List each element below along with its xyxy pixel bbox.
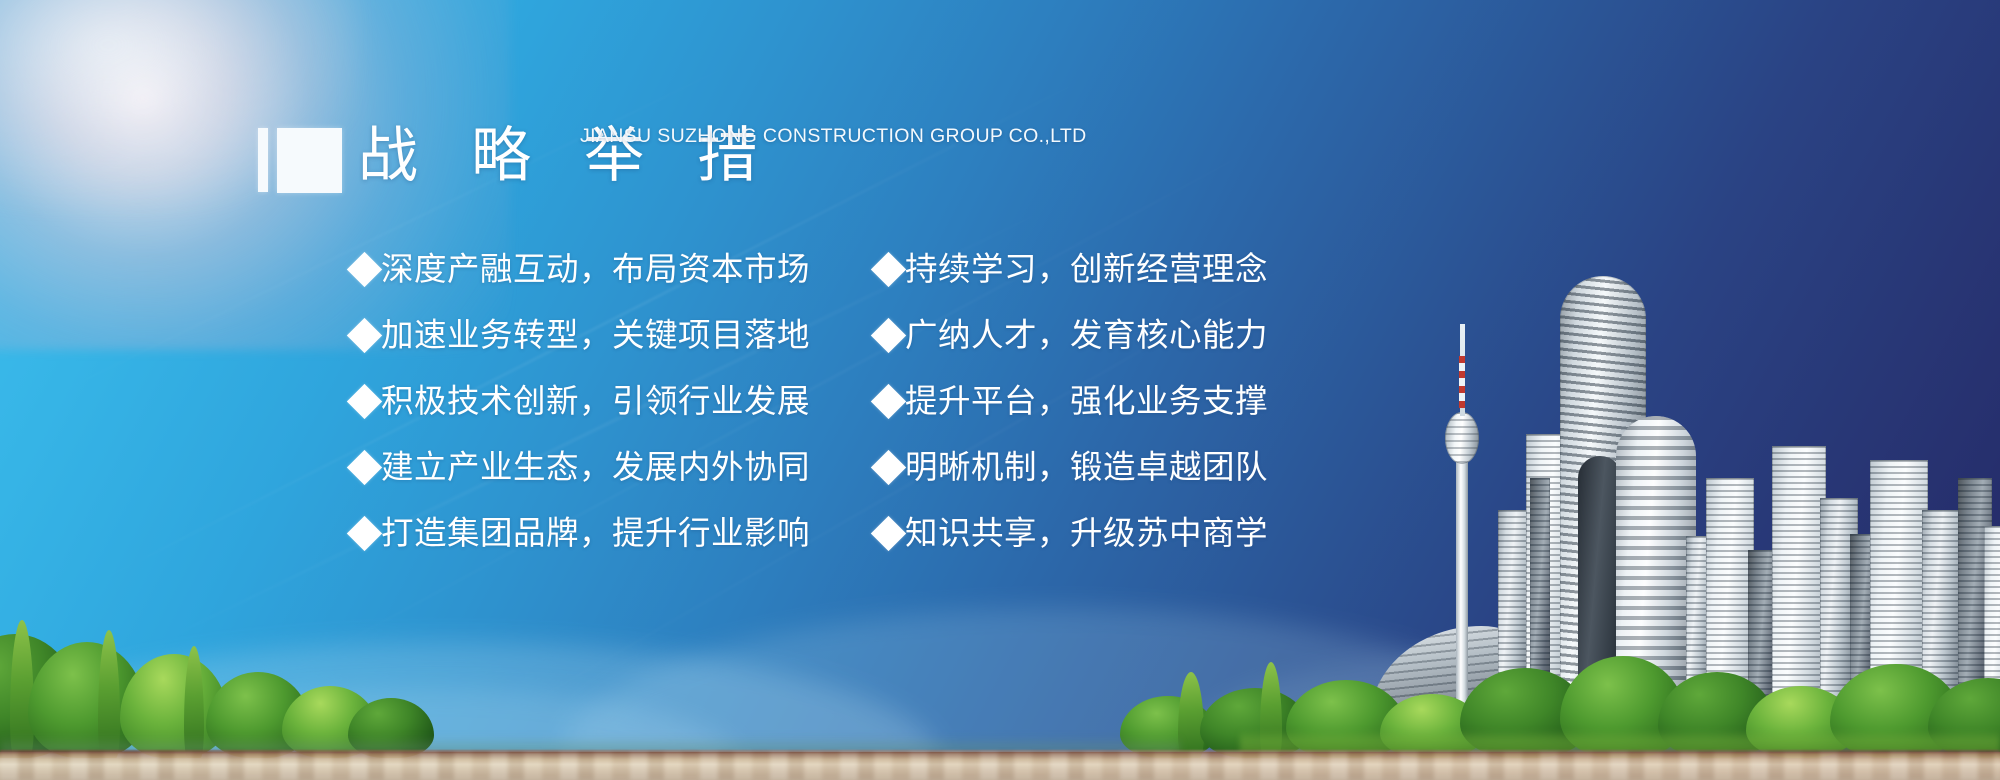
diamond-bullet-icon [347,515,382,550]
list-item-label: 加速业务转型，关键项目落地 [381,319,844,352]
list-item-label: 持续学习，创新经营理念 [905,253,1305,286]
list-item-label: 打造集团品牌，提升行业影响 [381,517,844,550]
list-item: 知识共享，升级苏中商学 [876,500,1305,566]
list-item: 打造集团品牌，提升行业影响 [352,500,844,566]
list-item: 深度产融互动，布局资本市场 [352,236,844,302]
tree [1178,672,1204,758]
diamond-bullet-icon [871,449,906,484]
diamond-bullet-icon [347,383,382,418]
list-item-label: 知识共享，升级苏中商学 [905,517,1305,550]
list-item: 建立产业生态，发展内外协同 [352,434,844,500]
initiatives-column-left: 深度产融互动，布局资本市场 加速业务转型，关键项目落地 积极技术创新，引领行业发… [352,236,844,566]
diamond-bullet-icon [871,317,906,352]
list-item: 广纳人才，发育核心能力 [876,302,1305,368]
diamond-bullet-icon [871,251,906,286]
logo-mark [258,128,342,193]
list-item-label: 明晰机制，锻造卓越团队 [905,451,1305,484]
diamond-bullet-icon [871,515,906,550]
list-item: 持续学习，创新经营理念 [876,236,1305,302]
initiatives-columns: 深度产融互动，布局资本市场 加速业务转型，关键项目落地 积极技术创新，引领行业发… [352,236,1305,566]
list-item-label: 积极技术创新，引领行业发展 [381,385,844,418]
tv-tower-observation-bulb [1445,412,1479,464]
list-item: 加速业务转型，关键项目落地 [352,302,844,368]
initiatives-column-right: 持续学习，创新经营理念 广纳人才，发育核心能力 提升平台，强化业务支撑 明晰机制… [876,236,1305,566]
diamond-bullet-icon [871,383,906,418]
list-item-label: 建立产业生态，发展内外协同 [381,451,844,484]
list-item: 提升平台，强化业务支撑 [876,368,1305,434]
list-item: 积极技术创新，引领行业发展 [352,368,844,434]
water-reflection [0,752,2000,780]
diamond-bullet-icon [347,449,382,484]
list-item-label: 提升平台，强化业务支撑 [905,385,1305,418]
diamond-bullet-icon [347,317,382,352]
diamond-bullet-icon [347,251,382,286]
company-name-subtitle: JIANSU SUZHONG CONSTRUCTION GROUP CO.,LT… [580,125,1087,148]
logo-bar-icon [258,128,268,192]
strategic-initiatives-banner: 战 略 举 措 JIANSU SUZHONG CONSTRUCTION GROU… [0,0,2000,780]
page-title: 战 略 举 措 [358,110,774,202]
logo-square-icon [277,128,342,193]
list-item-label: 深度产融互动，布局资本市场 [381,253,844,286]
list-item-label: 广纳人才，发育核心能力 [905,319,1305,352]
list-item: 明晰机制，锻造卓越团队 [876,434,1305,500]
tv-tower-antenna [1459,356,1465,408]
